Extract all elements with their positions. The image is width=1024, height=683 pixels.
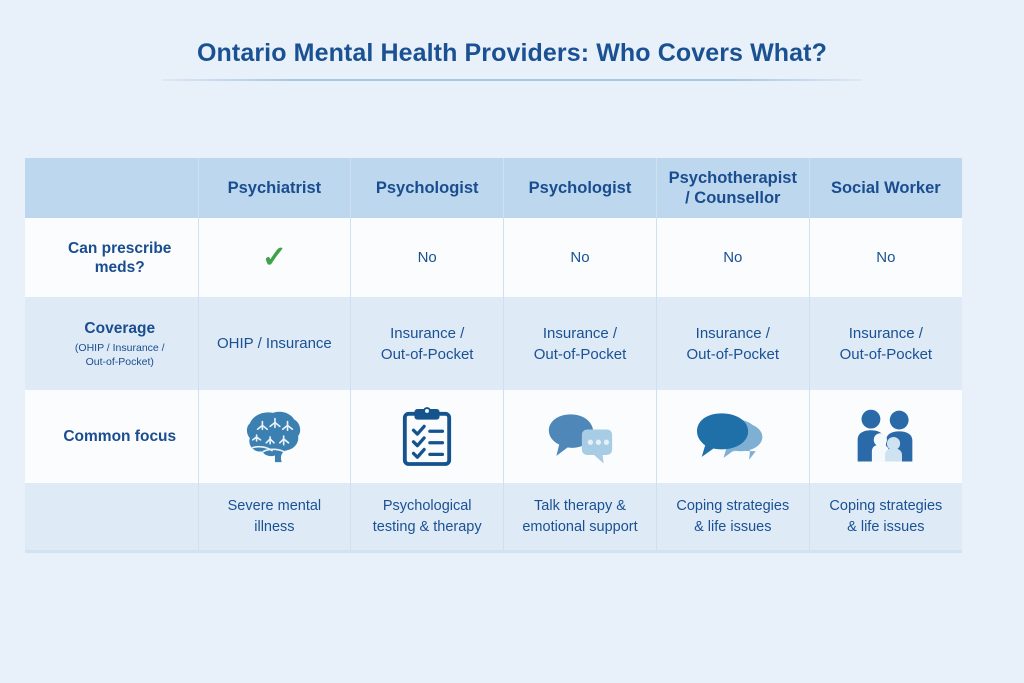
cell-caption-psychiatrist: Severe mental illness	[198, 483, 351, 550]
cell-focus-icon-psychiatrist	[198, 390, 351, 483]
page-title: Ontario Mental Health Providers: Who Cov…	[0, 36, 1024, 70]
title-divider	[162, 79, 862, 81]
header-cell-psychotherapist: Psychotherapist / Counsellor	[656, 158, 809, 218]
checkmark-icon: ✓	[262, 241, 287, 274]
row-label-coverage-sub: (OHIP / Insurance / Out-of-Pocket)	[42, 341, 198, 369]
table-header-row: Psychiatrist Psychologist Psychologist P…	[25, 158, 962, 218]
table-bottom-edge	[25, 550, 962, 553]
row-label-coverage-sub-line2: Out-of-Pocket)	[86, 356, 154, 368]
header-line-1: Psychotherapist	[657, 168, 809, 188]
cell-coverage-psychotherapist: Insurance / Out-of-Pocket	[656, 297, 809, 390]
row-label-prescribe: Can prescribe meds?	[25, 218, 198, 297]
cell-coverage-social-worker: Insurance / Out-of-Pocket	[809, 297, 962, 390]
cell-caption-social-worker: Coping strategies & life issues	[809, 483, 962, 550]
cell-prescribe-psychologist-2: No	[504, 218, 657, 297]
table-row-prescribe: Can prescribe meds? ✓ No No No No	[25, 218, 962, 297]
header-line-2: / Counsellor	[657, 188, 809, 208]
clipboard-checklist-icon	[351, 390, 503, 483]
brain-icon	[199, 390, 351, 483]
cell-caption-psychologist-1: Psychological testing & therapy	[351, 483, 504, 550]
row-label-common-focus: Common focus	[25, 390, 198, 483]
row-label-coverage-main: Coverage	[84, 320, 155, 337]
cell-focus-icon-psychologist-2	[504, 390, 657, 483]
cell-focus-icon-social-worker	[809, 390, 962, 483]
cell-prescribe-psychologist-1: No	[351, 218, 504, 297]
header-cell-social-worker: Social Worker	[809, 158, 962, 218]
table-row-common-focus: Common focus	[25, 390, 962, 483]
cell-focus-icon-psychologist-1	[351, 390, 504, 483]
row-label-coverage-sub-line1: (OHIP / Insurance /	[75, 342, 165, 354]
row-label-coverage: Coverage (OHIP / Insurance / Out-of-Pock…	[25, 297, 198, 390]
header-cell-psychiatrist: Psychiatrist	[198, 158, 351, 218]
table-row-coverage: Coverage (OHIP / Insurance / Out-of-Pock…	[25, 297, 962, 390]
cell-prescribe-social-worker: No	[809, 218, 962, 297]
header-cell-psychologist-2: Psychologist	[504, 158, 657, 218]
cell-prescribe-psychiatrist: ✓	[198, 218, 351, 297]
cell-coverage-psychologist-2: Insurance / Out-of-Pocket	[504, 297, 657, 390]
row-label-focus-captions-blank	[25, 483, 198, 550]
cell-coverage-psychiatrist: OHIP / Insurance	[198, 297, 351, 390]
cell-coverage-psychologist-1: Insurance / Out-of-Pocket	[351, 297, 504, 390]
cell-caption-psychologist-2: Talk therapy & emotional support	[504, 483, 657, 550]
cell-prescribe-psychotherapist: No	[656, 218, 809, 297]
cell-focus-icon-psychotherapist	[656, 390, 809, 483]
infographic-page: Ontario Mental Health Providers: Who Cov…	[0, 0, 1024, 683]
family-group-icon	[810, 390, 962, 483]
title-block: Ontario Mental Health Providers: Who Cov…	[0, 36, 1024, 81]
header-cell-blank	[25, 158, 198, 218]
header-cell-psychologist-1: Psychologist	[351, 158, 504, 218]
cell-caption-psychotherapist: Coping strategies & life issues	[656, 483, 809, 550]
speech-bubbles-icon	[657, 390, 809, 483]
providers-comparison-table: Psychiatrist Psychologist Psychologist P…	[25, 158, 962, 550]
table-row-focus-captions: Severe mental illness Psychological test…	[25, 483, 962, 550]
speech-bubbles-dots-icon	[504, 390, 656, 483]
